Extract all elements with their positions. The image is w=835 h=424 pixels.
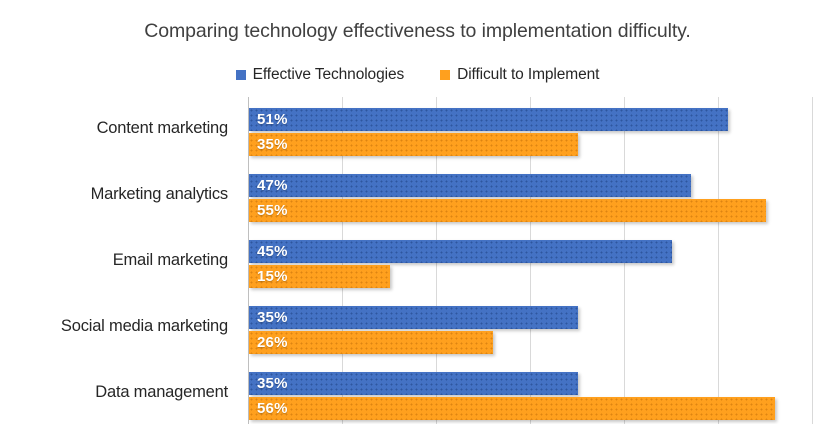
category-label: Social media marketing <box>61 317 228 336</box>
bar-value-label: 15% <box>249 268 288 285</box>
legend-label: Effective Technologies <box>253 66 404 84</box>
legend-swatch-icon <box>236 70 246 80</box>
bar-1-0[interactable]: 35% <box>249 133 578 156</box>
bar-value-label: 51% <box>249 111 288 128</box>
legend-item-difficult-to-implement[interactable]: Difficult to Implement <box>440 66 599 84</box>
category-label: Content marketing <box>97 119 228 138</box>
plot-area: 51%35%47%55%45%15%35%26%35%56% <box>248 97 835 424</box>
bar-value-label: 35% <box>249 375 288 392</box>
gridline <box>718 97 719 424</box>
bar-1-3[interactable]: 26% <box>249 331 493 354</box>
bar-0-0[interactable]: 51% <box>249 108 728 131</box>
chart-title: Comparing technology effectiveness to im… <box>0 20 835 43</box>
bar-value-label: 56% <box>249 400 288 417</box>
chart-legend: Effective Technologies Difficult to Impl… <box>0 66 835 84</box>
bar-1-1[interactable]: 55% <box>249 199 766 222</box>
bar-value-label: 26% <box>249 334 288 351</box>
bar-0-3[interactable]: 35% <box>249 306 578 329</box>
bar-chart: Comparing technology effectiveness to im… <box>0 0 835 424</box>
bar-value-label: 45% <box>249 243 288 260</box>
bar-0-1[interactable]: 47% <box>249 174 691 197</box>
bar-0-2[interactable]: 45% <box>249 240 672 263</box>
bar-value-label: 35% <box>249 136 288 153</box>
bar-1-2[interactable]: 15% <box>249 265 390 288</box>
legend-item-effective-technologies[interactable]: Effective Technologies <box>236 66 404 84</box>
gridline <box>812 97 813 424</box>
legend-swatch-icon <box>440 70 450 80</box>
bar-value-label: 35% <box>249 309 288 326</box>
bar-1-4[interactable]: 56% <box>249 397 775 420</box>
bar-value-label: 47% <box>249 177 288 194</box>
category-axis: Content marketing Marketing analytics Em… <box>0 97 240 424</box>
category-label: Data management <box>95 383 228 402</box>
category-label: Marketing analytics <box>91 185 228 204</box>
category-label: Email marketing <box>113 251 228 270</box>
bar-0-4[interactable]: 35% <box>249 372 578 395</box>
bar-value-label: 55% <box>249 202 288 219</box>
legend-label: Difficult to Implement <box>457 66 599 84</box>
